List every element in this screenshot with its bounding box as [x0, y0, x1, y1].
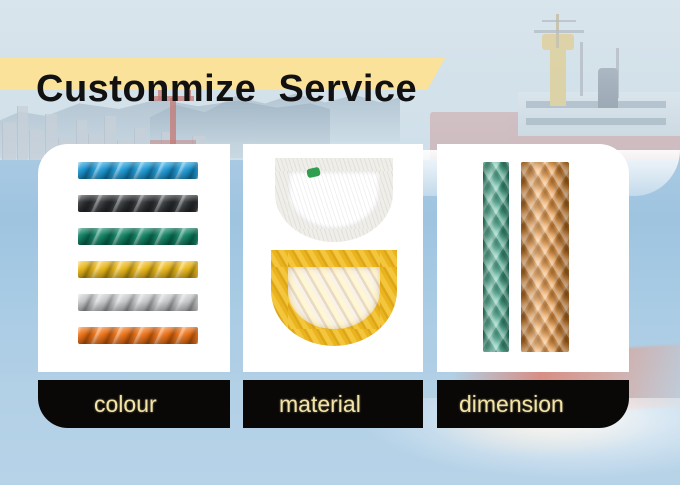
orange-rope	[78, 327, 198, 344]
white-braided-rope	[275, 158, 393, 242]
card-colour-label: colour	[38, 380, 230, 428]
page-title: Custonmize Service	[36, 70, 417, 108]
card-material-photo	[243, 144, 423, 372]
card-colour[interactable]: colour	[38, 144, 230, 428]
card-material-label: material	[243, 380, 423, 428]
card-dimension-label-text: dimension	[437, 391, 564, 418]
card-material[interactable]: material	[243, 144, 423, 428]
feature-cards: colour material	[0, 144, 680, 430]
card-dimension[interactable]: dimension	[437, 144, 629, 428]
title-area: Custonmize Service	[0, 36, 680, 96]
rope-colour-swatches	[78, 162, 198, 360]
card-material-label-text: material	[243, 391, 361, 418]
yellow-rope	[78, 261, 198, 278]
black-rope	[78, 195, 198, 212]
green-braided-rope	[483, 162, 509, 352]
card-dimension-photo	[437, 144, 629, 372]
card-colour-photo	[38, 144, 230, 372]
silver-rope	[78, 294, 198, 311]
orange-braided-rope	[521, 162, 569, 352]
card-dimension-label: dimension	[437, 380, 629, 428]
customize-service-banner: Custonmize Service colour	[0, 0, 680, 485]
blue-rope	[78, 162, 198, 179]
yellow-braided-rope	[271, 250, 397, 346]
green-rope	[78, 228, 198, 245]
card-colour-label-text: colour	[38, 391, 157, 418]
